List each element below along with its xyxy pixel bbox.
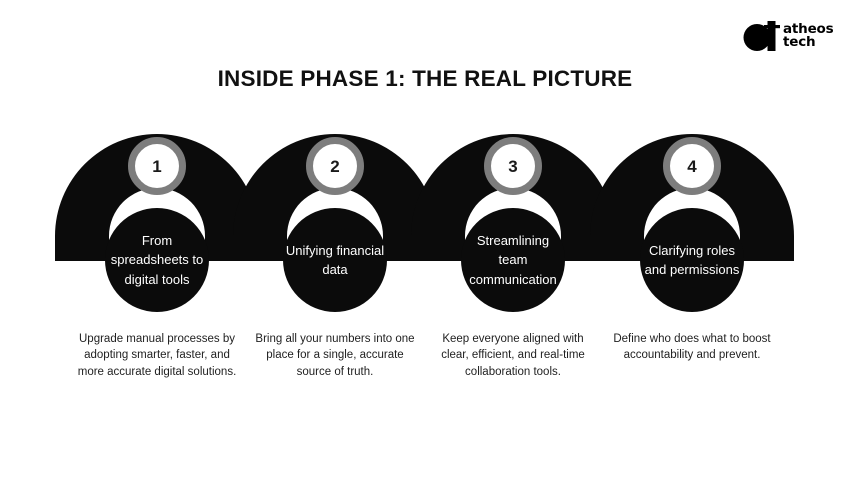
step-badge-3[interactable]: 3 xyxy=(484,137,542,195)
step-badge-1[interactable]: 1 xyxy=(128,137,186,195)
step-label-3: Streamlining team communication xyxy=(461,231,565,289)
step-caption-1: Upgrade manual processes by adopting sma… xyxy=(77,331,237,380)
step-disc-3[interactable]: Streamlining team communication xyxy=(461,208,565,312)
step-label-1: From spreadsheets to digital tools xyxy=(105,231,209,289)
step-caption-2: Bring all your numbers into one place fo… xyxy=(255,331,415,380)
step-label-4: Clarifying roles and permissions xyxy=(640,241,744,279)
step-column-1[interactable]: 1 From spreadsheets to digital tools Upg… xyxy=(67,0,247,500)
step-number-2: 2 xyxy=(330,158,339,175)
step-disc-4[interactable]: Clarifying roles and permissions xyxy=(640,208,744,312)
step-disc-2[interactable]: Unifying financial data xyxy=(283,208,387,312)
step-badge-4[interactable]: 4 xyxy=(663,137,721,195)
step-column-3[interactable]: 3 Streamlining team communication Keep e… xyxy=(423,0,603,500)
step-label-2: Unifying financial data xyxy=(283,241,387,279)
step-disc-1[interactable]: From spreadsheets to digital tools xyxy=(105,208,209,312)
infographic-canvas: atheos tech INSIDE PHASE 1: THE REAL PIC… xyxy=(0,0,850,500)
step-column-4[interactable]: 4 Clarifying roles and permissions Defin… xyxy=(602,0,782,500)
step-number-4: 4 xyxy=(687,158,696,175)
step-badge-2[interactable]: 2 xyxy=(306,137,364,195)
step-caption-3: Keep everyone aligned with clear, effici… xyxy=(433,331,593,380)
step-number-3: 3 xyxy=(508,158,517,175)
step-caption-4: Define who does what to boost accountabi… xyxy=(612,331,772,364)
step-number-1: 1 xyxy=(152,158,161,175)
step-column-2[interactable]: 2 Unifying financial data Bring all your… xyxy=(245,0,425,500)
